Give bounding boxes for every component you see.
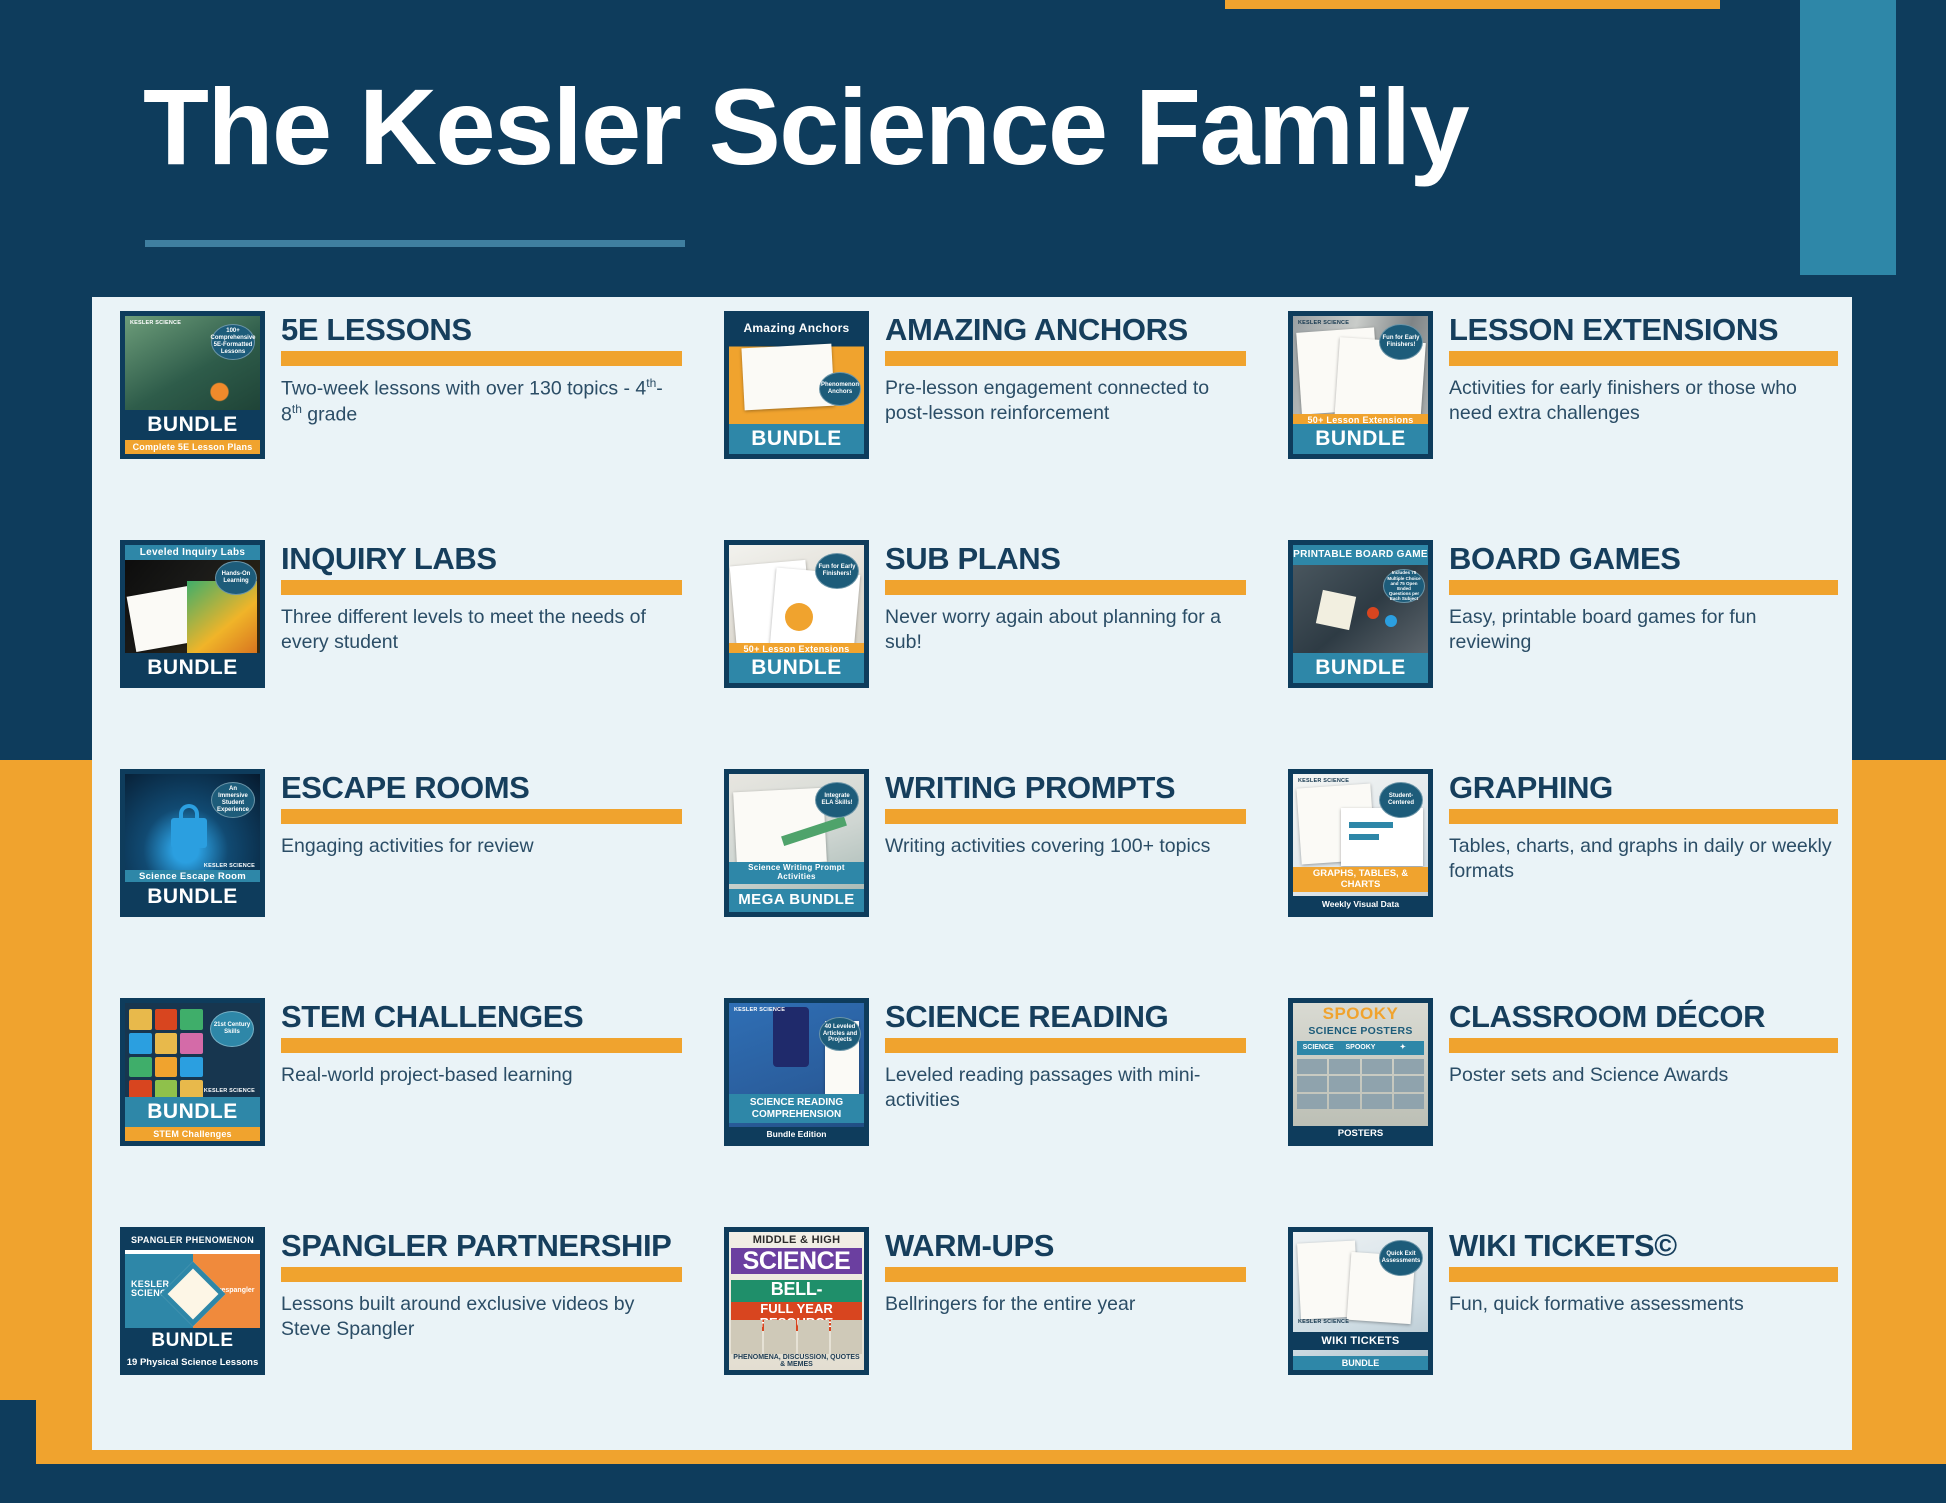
product-thumbnail[interactable]: 21st Century Skills KESLER SCIENCE BUNDL…	[120, 998, 265, 1146]
product-title: GRAPHING	[1449, 771, 1838, 804]
poster-thumb	[1362, 1094, 1392, 1109]
page-title: The Kesler Science Family	[143, 70, 1468, 183]
product-title: SCIENCE READING	[885, 1000, 1246, 1033]
stem-icon	[180, 1057, 203, 1078]
bundle-label: BUNDLE	[729, 424, 864, 454]
product-thumbnail[interactable]: Quick Exit Assessments KESLER SCIENCE WI…	[1288, 1227, 1433, 1375]
thumbnail-title-line1: SPOOKY	[1293, 1005, 1428, 1022]
bundle-label: BUNDLE	[125, 410, 260, 440]
thumbnail-preview-strip	[731, 1320, 862, 1354]
thumbnail-badge: Includes 75 Multiple Choice and 75 Open …	[1383, 569, 1425, 603]
strip-item: ✦	[1382, 1041, 1424, 1055]
bundle-sublabel: STEM Challenges	[125, 1127, 260, 1141]
desc-part-1: Two-week lessons with over 130 topics - …	[281, 378, 646, 400]
thumbnail-top-band: Amazing Anchors	[729, 320, 864, 337]
products-grid: KESLER SCIENCE 100+ Comprehensive 5E-For…	[92, 297, 1852, 1450]
bottom-navy-bar	[0, 1464, 1946, 1503]
padlock-shackle-icon	[179, 804, 199, 822]
strip-item: SPOOKY	[1339, 1041, 1381, 1055]
poster-thumb	[1297, 1094, 1327, 1109]
product-card-classroom-decor[interactable]: SPOOKY SCIENCE POSTERS SCIENCE SPOOKY ✦ …	[1260, 992, 1852, 1221]
preview-thumb	[764, 1320, 795, 1354]
stem-icon	[155, 1057, 178, 1078]
thumbnail-badge: An Immersive Student Experience	[211, 782, 255, 818]
product-card-spangler-partnership[interactable]: SPANGLER PHENOMENON KESLER SCIENCE steve…	[92, 1221, 696, 1450]
product-description: Bellringers for the entire year	[885, 1292, 1246, 1317]
thumbnail-line-2: SCIENCE	[731, 1248, 862, 1274]
bundle-label: BUNDLE	[125, 1097, 260, 1127]
product-title: AMAZING ANCHORS	[885, 313, 1246, 346]
product-description: Writing activities covering 100+ topics	[885, 834, 1246, 859]
thumbnail-footer: PHENOMENA, DISCUSSION, QUOTES & MEMES	[731, 1354, 862, 1368]
poster-thumb	[1394, 1094, 1424, 1109]
title-rule	[281, 1038, 682, 1053]
product-meta: BOARD GAMES Easy, printable board games …	[1449, 540, 1838, 655]
poster-thumb	[1394, 1076, 1424, 1091]
product-description: Real-world project-based learning	[281, 1063, 682, 1088]
stem-icon	[129, 1057, 152, 1078]
product-meta: WARM-UPS Bellringers for the entire year	[885, 1227, 1246, 1317]
product-card-escape-rooms[interactable]: An Immersive Student Experience KESLER S…	[92, 763, 696, 992]
product-title: BOARD GAMES	[1449, 542, 1838, 575]
product-thumbnail[interactable]: MIDDLE & HIGH SCIENCE BELL-RINGERS FULL …	[724, 1227, 869, 1375]
thumbnail-badge: Fun for Early Finishers!	[815, 553, 859, 589]
thumbnail-band: SCIENCE READING COMPREHENSION	[729, 1094, 864, 1123]
thumbnail-token	[1385, 615, 1397, 627]
title-rule	[885, 809, 1246, 824]
title-rule	[1449, 1038, 1838, 1053]
poster-thumb	[1297, 1076, 1327, 1091]
product-description: Two-week lessons with over 130 topics - …	[281, 376, 682, 427]
thumbnail-chart-bar	[1349, 834, 1379, 840]
title-rule	[1449, 1267, 1838, 1282]
thumbnail-badge: 21st Century Skills	[210, 1011, 254, 1047]
product-meta: SUB PLANS Never worry again about planni…	[885, 540, 1246, 655]
product-meta: WRITING PROMPTS Writing activities cover…	[885, 769, 1246, 859]
poster-thumb	[1329, 1094, 1359, 1109]
title-rule	[885, 351, 1246, 366]
thumbnail-accent-dot	[785, 603, 813, 631]
poster-thumb	[1329, 1059, 1359, 1074]
stem-icon	[180, 1009, 203, 1030]
thumbnail-top-band: Leveled Inquiry Labs	[125, 545, 260, 560]
title-rule	[885, 1267, 1246, 1282]
thumbnail-badge: Student-Centered	[1379, 782, 1423, 818]
product-title: 5E LESSONS	[281, 313, 682, 346]
product-title: CLASSROOM DÉCOR	[1449, 1000, 1838, 1033]
thumbnail-header-band: SPANGLER PHENOMENON	[125, 1232, 260, 1250]
product-meta: INQUIRY LABS Three different levels to m…	[281, 540, 682, 655]
product-title: WRITING PROMPTS	[885, 771, 1246, 804]
product-title: INQUIRY LABS	[281, 542, 682, 575]
product-title: SPANGLER PARTNERSHIP	[281, 1229, 682, 1262]
thumbnail-dice	[1316, 590, 1356, 630]
stem-icon	[155, 1009, 178, 1030]
product-thumbnail[interactable]: KESLER SCIENCE 100+ Comprehensive 5E-For…	[120, 311, 265, 459]
desc-part-3: grade	[302, 403, 357, 425]
bundle-label: MEGA BUNDLE	[729, 889, 864, 913]
product-thumbnail[interactable]: Fun for Early Finishers! 50+ Lesson Exte…	[724, 540, 869, 688]
product-description: Lessons built around exclusive videos by…	[281, 1292, 682, 1342]
product-card-warm-ups[interactable]: MIDDLE & HIGH SCIENCE BELL-RINGERS FULL …	[696, 1221, 1260, 1450]
thumbnail-strip: SCIENCE SPOOKY ✦	[1297, 1041, 1424, 1055]
product-description: Poster sets and Science Awards	[1449, 1063, 1838, 1088]
product-card-5e-lessons[interactable]: KESLER SCIENCE 100+ Comprehensive 5E-For…	[92, 305, 696, 534]
thumbnail-band: GRAPHS, TABLES, & CHARTS	[1293, 867, 1428, 892]
bundle-sublabel: POSTERS	[1293, 1126, 1428, 1141]
desc-sup-1: th	[646, 376, 656, 390]
thumbnail-line-1: MIDDLE & HIGH	[729, 1234, 864, 1246]
product-card-graphing[interactable]: Student-Centered KESLER SCIENCE GRAPHS, …	[1260, 763, 1852, 992]
product-description: Fun, quick formative assessments	[1449, 1292, 1838, 1317]
bundle-label: BUNDLE	[125, 882, 260, 912]
product-meta: SPANGLER PARTNERSHIP Lessons built aroun…	[281, 1227, 682, 1342]
product-card-writing-prompts[interactable]: Integrate ELA Skills! Science Writing Pr…	[696, 763, 1260, 992]
product-title: WARM-UPS	[885, 1229, 1246, 1262]
product-card-wiki-tickets[interactable]: Quick Exit Assessments KESLER SCIENCE WI…	[1260, 1221, 1852, 1450]
product-meta: CLASSROOM DÉCOR Poster sets and Science …	[1449, 998, 1838, 1088]
title-rule	[885, 580, 1246, 595]
kesler-logo-icon: KESLER SCIENCE	[204, 1089, 255, 1095]
product-description: Easy, printable board games for fun revi…	[1449, 605, 1838, 655]
thumbnail-badge: Phenomenon Anchors	[819, 372, 861, 406]
product-card-board-games[interactable]: PRINTABLE BOARD GAME Includes 75 Multipl…	[1260, 534, 1852, 763]
bundle-label: BUNDLE	[729, 653, 864, 683]
title-rule	[1449, 809, 1838, 824]
stem-icon	[129, 1033, 152, 1054]
bundle-label: BUNDLE	[1293, 424, 1428, 454]
stem-icon	[155, 1033, 178, 1054]
title-rule	[281, 580, 682, 595]
bottom-left-navy-block	[0, 1400, 36, 1503]
thumbnail-header-band: PRINTABLE BOARD GAME	[1293, 545, 1428, 565]
bundle-sublabel: Weekly Visual Data	[1293, 896, 1428, 912]
product-thumbnail[interactable]: Amazing Anchors Phenomenon Anchors BUNDL…	[724, 311, 869, 459]
title-underline	[145, 240, 685, 247]
product-description: Engaging activities for review	[281, 834, 682, 859]
poster-thumb	[1297, 1059, 1327, 1074]
poster-thumb	[1329, 1076, 1359, 1091]
product-thumbnail[interactable]: KESLER SCIENCE 40 Leveled Articles and P…	[724, 998, 869, 1146]
strip-item: SCIENCE	[1297, 1041, 1339, 1055]
stem-icon	[180, 1033, 203, 1054]
kesler-logo-icon: KESLER SCIENCE	[1298, 321, 1349, 327]
thumbnail-band: Science Writing Prompt Activities	[729, 862, 864, 884]
preview-thumb	[798, 1320, 829, 1354]
thumbnail-chart-bar	[1349, 822, 1393, 828]
product-card-science-reading[interactable]: KESLER SCIENCE 40 Leveled Articles and P…	[696, 992, 1260, 1221]
bundle-sublabel: BUNDLE	[1293, 1356, 1428, 1370]
bundle-sublabel: Bundle Edition	[729, 1127, 864, 1141]
page-header: The Kesler Science Family	[0, 0, 1946, 300]
thumbnail-badge: 100+ Comprehensive 5E-Formatted Lessons	[211, 324, 255, 360]
product-meta: AMAZING ANCHORS Pre-lesson engagement co…	[885, 311, 1246, 426]
title-rule	[1449, 580, 1838, 595]
thumbnail-icon-grid	[129, 1009, 203, 1101]
product-card-amazing-anchors[interactable]: Amazing Anchors Phenomenon Anchors BUNDL…	[696, 305, 1260, 534]
thumbnail-poster-grid	[1297, 1059, 1424, 1109]
product-description: Tables, charts, and graphs in daily or w…	[1449, 834, 1838, 884]
thumbnail-band: WIKI TICKETS	[1293, 1332, 1428, 1350]
thumbnail-badge: 40 Leveled Articles and Projects	[819, 1017, 861, 1051]
preview-thumb	[731, 1320, 762, 1354]
product-meta: 5E LESSONS Two-week lessons with over 13…	[281, 311, 682, 427]
product-meta: SCIENCE READING Leveled reading passages…	[885, 998, 1246, 1113]
title-rule	[885, 1038, 1246, 1053]
preview-thumb	[831, 1320, 862, 1354]
thumbnail-badge: Integrate ELA Skills!	[815, 782, 859, 818]
title-rule	[1449, 351, 1838, 366]
products-panel: KESLER SCIENCE 100+ Comprehensive 5E-For…	[92, 297, 1852, 1450]
bundle-label: BUNDLE	[125, 653, 260, 683]
thumbnail-paper	[741, 344, 834, 411]
thumbnail-badge: Quick Exit Assessments	[1379, 1240, 1423, 1276]
thumbnail-token	[1367, 607, 1379, 619]
product-meta: GRAPHING Tables, charts, and graphs in d…	[1449, 769, 1838, 884]
padlock-icon	[171, 818, 207, 848]
product-thumbnail[interactable]: Student-Centered KESLER SCIENCE GRAPHS, …	[1288, 769, 1433, 917]
product-card-lesson-extensions[interactable]: KESLER SCIENCE Fun for Early Finishers! …	[1260, 305, 1852, 534]
product-description: Leveled reading passages with mini-activ…	[885, 1063, 1246, 1113]
bundle-label: BUNDLE	[125, 1328, 260, 1356]
product-title: STEM CHALLENGES	[281, 1000, 682, 1033]
title-rule	[281, 809, 682, 824]
product-meta: ESCAPE ROOMS Engaging activities for rev…	[281, 769, 682, 859]
product-title: ESCAPE ROOMS	[281, 771, 682, 804]
product-meta: STEM CHALLENGES Real-world project-based…	[281, 998, 682, 1088]
product-thumbnail[interactable]: Leveled Inquiry Labs Hands-On Learning B…	[120, 540, 265, 688]
poster-thumb	[1362, 1059, 1392, 1074]
kesler-logo-icon: KESLER SCIENCE	[1298, 779, 1349, 785]
product-title: SUB PLANS	[885, 542, 1246, 575]
thumbnail-badge: Fun for Early Finishers!	[1379, 324, 1423, 360]
product-thumbnail[interactable]: KESLER SCIENCE Fun for Early Finishers! …	[1288, 311, 1433, 459]
product-thumbnail[interactable]: Integrate ELA Skills! Science Writing Pr…	[724, 769, 869, 917]
stem-icon	[129, 1009, 152, 1030]
thumbnail-badge: Hands-On Learning	[215, 561, 257, 595]
desc-sup-2: th	[292, 402, 302, 416]
poster-thumb	[1394, 1059, 1424, 1074]
product-thumbnail[interactable]: PRINTABLE BOARD GAME Includes 75 Multipl…	[1288, 540, 1433, 688]
product-title: WIKI TICKETS©	[1449, 1229, 1838, 1262]
product-meta: LESSON EXTENSIONS Activities for early f…	[1449, 311, 1838, 426]
bundle-label: BUNDLE	[1293, 653, 1428, 683]
bundle-sublabel: Complete 5E Lesson Plans	[125, 440, 260, 454]
microscope-icon	[773, 1007, 809, 1067]
thumbnail-title-line2: SCIENCE POSTERS	[1293, 1025, 1428, 1037]
product-title: LESSON EXTENSIONS	[1449, 313, 1838, 346]
product-thumbnail[interactable]: An Immersive Student Experience KESLER S…	[120, 769, 265, 917]
product-card-sub-plans[interactable]: Fun for Early Finishers! 50+ Lesson Exte…	[696, 534, 1260, 763]
kesler-logo-icon: KESLER SCIENCE	[734, 1008, 785, 1014]
product-description: Pre-lesson engagement connected to post-…	[885, 376, 1246, 426]
product-card-inquiry-labs[interactable]: Leveled Inquiry Labs Hands-On Learning B…	[92, 534, 696, 763]
bundle-sublabel: 19 Physical Science Lessons	[125, 1355, 260, 1370]
product-description: Three different levels to meet the needs…	[281, 605, 682, 655]
title-rule	[281, 1267, 682, 1282]
product-thumbnail[interactable]: SPOOKY SCIENCE POSTERS SCIENCE SPOOKY ✦ …	[1288, 998, 1433, 1146]
product-meta: WIKI TICKETS© Fun, quick formative asses…	[1449, 1227, 1838, 1317]
product-description: Activities for early finishers or those …	[1449, 376, 1838, 426]
title-rule	[281, 351, 682, 366]
product-card-stem-challenges[interactable]: 21st Century Skills KESLER SCIENCE BUNDL…	[92, 992, 696, 1221]
product-thumbnail[interactable]: SPANGLER PHENOMENON KESLER SCIENCE steve…	[120, 1227, 265, 1375]
poster-thumb	[1362, 1076, 1392, 1091]
product-description: Never worry again about planning for a s…	[885, 605, 1246, 655]
kesler-logo-icon: KESLER SCIENCE	[130, 321, 181, 327]
kesler-logo-icon: KESLER SCIENCE	[1298, 1320, 1349, 1326]
